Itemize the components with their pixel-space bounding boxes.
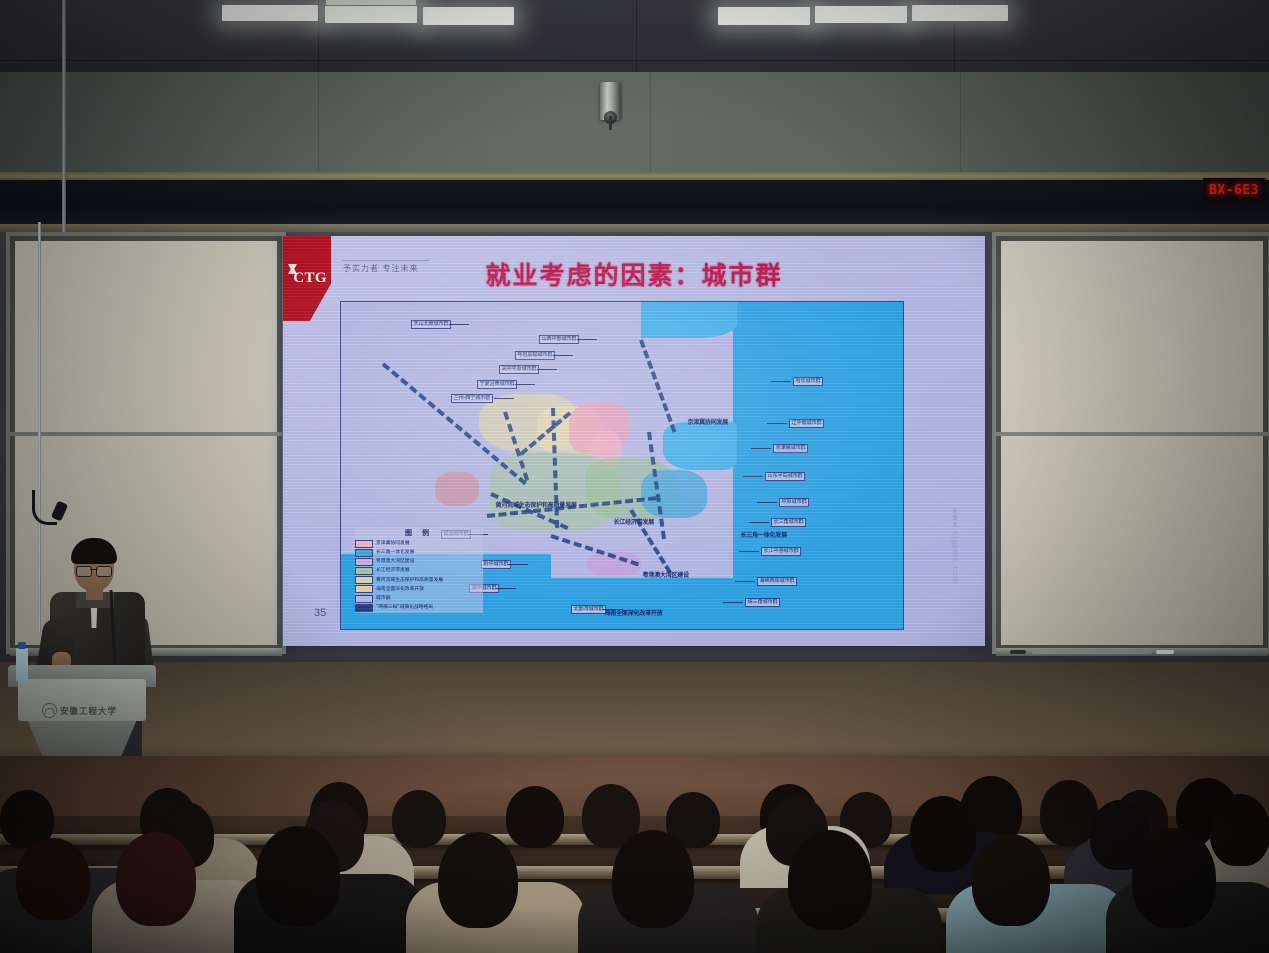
map-cluster-label: 关中平原城市群 [499,365,539,374]
ceiling-seam [0,60,1269,61]
map-strategy-label: 京津冀协同发展 [686,419,730,427]
whiteboard-surface [15,241,277,645]
sea-south [537,578,767,630]
wall-conduit [62,0,66,232]
legend-swatch [355,567,373,575]
map-cluster-label: 呼包鄂榆城市群 [515,351,555,360]
legend-swatch [355,576,373,584]
lecture-hall-photo: BX-6E3 CTG 予实力者 专注未来 就业考虑的因素：城市群 35 www.… [0,0,1269,953]
podium-institution-name: 安徽工程大学 [60,705,117,717]
back-wall [0,72,1269,182]
legend-swatch [355,549,373,557]
map-cluster-label: 山西中部城市群 [539,335,579,344]
map-cluster-label: 京津冀城市群 [773,444,808,453]
map-label-leader [757,502,777,503]
map-label-leader [553,355,573,356]
china-urban-cluster-map: 京津冀协同发展黄河流域生态保护和高质量发展长江经济带发展长三角一体化发展粤港澳大… [340,301,904,630]
map-cluster-label: 辽中南城市群 [789,419,824,428]
legend-label: 黄河流域生态保护和高质量发展 [376,578,443,583]
map-label-leader [603,609,623,610]
legend-label: 京津冀协同发展 [376,541,410,546]
map-label-leader [537,369,557,370]
ceiling-projector-camera [600,82,621,120]
ceiling-light-panel [718,7,810,25]
map-cluster-label: 天山北坡城市群 [411,320,451,329]
map-cluster-label: 兰州-西宁城市群 [451,394,493,403]
map-legend: 图 例 京津冀协同发展长三角一体化发展粤港澳大湾区建设长江经济带发展黄河流域生态… [355,528,483,614]
dark-valance-band [0,180,1269,225]
legend-row: 长三角一体化发展 [355,549,483,557]
ceiling-light-panel [222,5,318,21]
left-whiteboard [6,232,286,654]
map-cluster-label: 长江中游城市群 [761,547,801,556]
legend-row: 黄河流域生态保护和高质量发展 [355,576,483,584]
whiteboard-panel-split [10,432,282,436]
map-label-leader [751,448,771,449]
whiteboard-eraser[interactable] [1010,650,1026,654]
legend-row: 海南全面深化改革开放 [355,585,483,593]
ceiling-seam [318,0,319,78]
legend-swatch [355,540,373,548]
legend-label: 长江经济带发展 [376,568,410,573]
map-strategy-label: 长江经济带发展 [612,519,656,527]
wall-seam [960,72,961,182]
legend-row: "两横三纵"城镇化战略格局 [355,604,483,612]
legend-label: "两横三纵"城镇化战略格局 [376,605,433,610]
podium-front-panel: 安徽工程大学 [18,679,146,721]
map-cluster-label: 珠三角城市群 [745,598,780,607]
presentation-slide: CTG 予实力者 专注未来 就业考虑的因素：城市群 35 www.ctgpmc.… [283,236,985,646]
map-strategy-label: 海南全面深化改革开放 [603,610,664,618]
audience-area [0,756,1269,953]
audience-head [438,832,518,928]
map-label-leader [771,381,791,382]
ceiling-light-panel [325,6,417,23]
region-yangtze-delta [641,470,707,518]
region-chengdu-chongqing [435,472,479,506]
legend-row: 粤港澳大湾区建设 [355,558,483,566]
slide-title: 就业考虑的因素：城市群 [283,256,985,292]
legend-label: 长三角一体化发展 [376,550,414,555]
audience-head [972,834,1050,926]
map-strategy-label: 长三角一体化发展 [739,532,788,540]
legend-label: 海南全面深化改革开放 [376,587,424,592]
speaker-glasses [76,566,112,575]
ceiling [0,0,1269,78]
legend-row: 京津冀协同发展 [355,540,483,548]
map-label-leader [449,324,469,325]
audience-head [1210,794,1269,866]
legend-swatch [355,604,373,612]
led-sign: BX-6E3 [1203,178,1265,202]
map-cluster-label: 北部湾城市群 [571,605,606,614]
hanging-microphone-cable [38,222,41,632]
map-label-leader [743,476,763,477]
legend-rows: 京津冀协同发展长三角一体化发展粤港澳大湾区建设长江经济带发展黄河流域生态保护和高… [355,540,483,612]
audience-head [788,830,872,930]
led-sign-text: BX-6E3 [1209,183,1259,198]
whiteboard-marker[interactable] [1032,650,1152,654]
sea-north [641,302,737,338]
microphone-boom [32,490,57,525]
water-bottle-cap [18,642,26,649]
map-cluster-label: 海峡西岸城市群 [757,577,797,586]
ceiling-light-panel [423,7,514,25]
slide-watermark: www.ctgpmc.com [951,508,960,584]
ceiling-light-panel [326,0,416,5]
whiteboard-panel-split [996,432,1268,436]
audience-head [506,786,564,848]
audience-head [116,832,196,926]
projector-mount [609,116,612,130]
glasses-lens-left [76,566,92,577]
audience-head [392,790,446,848]
map-cluster-label: 中原城市群 [779,498,809,507]
wall-seam [318,72,319,182]
podium-body [26,717,138,759]
whiteboard-surface [1001,241,1263,645]
map-strategy-label: 黄河流域生态保护和高质量发展 [494,502,578,510]
audience-head [16,838,90,920]
ceiling-light-panel [815,6,907,23]
projection-screen: CTG 予实力者 专注未来 就业考虑的因素：城市群 35 www.ctgpmc.… [283,236,985,646]
legend-row: 城市群 [355,595,483,603]
map-label-leader [735,581,755,582]
audience-head [910,796,976,872]
whiteboard-marker[interactable] [1156,650,1174,654]
map-cluster-label: 宁夏沿黄城市群 [477,380,517,389]
glasses-lens-right [96,566,112,577]
legend-swatch [355,585,373,593]
map-label-leader [577,339,597,340]
map-cluster-label: 山东半岛城市群 [765,472,805,481]
map-label-leader [749,522,769,523]
map-label-leader [723,602,743,603]
map-cluster-label: 哈长城市群 [793,377,823,386]
wall-seam [650,72,651,182]
map-cluster-label: 黔中城市群 [481,560,511,569]
map-label-leader [494,398,514,399]
map-label-leader [515,384,535,385]
legend-label: 粤港澳大湾区建设 [376,559,414,564]
audience-head [256,826,340,926]
map-label-leader [496,588,516,589]
map-label-leader [767,423,787,424]
map-label-leader [508,564,528,565]
slide-page-number: 35 [314,607,326,619]
legend-label: 城市群 [376,596,390,601]
stage-edge [0,660,1269,662]
legend-title: 图 例 [355,528,483,538]
ceiling-light-panel [912,5,1008,21]
map-cluster-label: 长三角城市群 [771,518,806,527]
legend-swatch [355,595,373,603]
university-seal-icon [42,703,57,718]
legend-row: 长江经济带发展 [355,567,483,575]
map-label-leader [739,551,759,552]
audience-head [1132,828,1216,928]
right-whiteboard [992,232,1269,654]
water-bottle [16,648,28,682]
map-strategy-label: 粤港澳大湾区建设 [641,572,690,580]
audience-head [612,830,694,928]
legend-swatch [355,558,373,566]
ceiling-seam [636,0,637,78]
